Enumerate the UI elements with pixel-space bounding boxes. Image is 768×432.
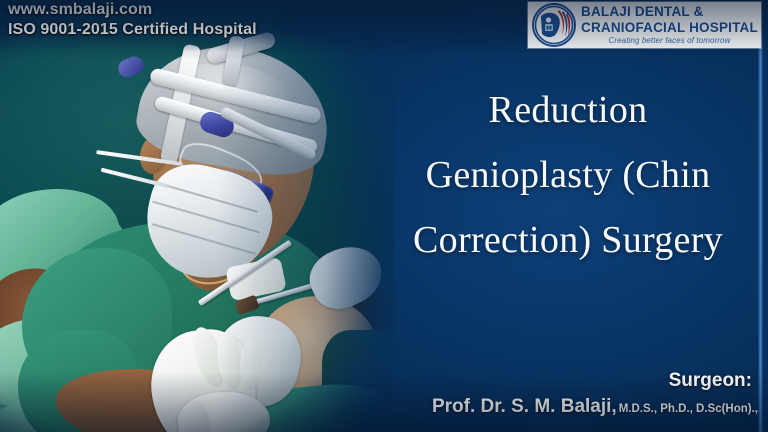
iso-certification-text: ISO 9001-2015 Certified Hospital (8, 21, 257, 39)
logo-line-2: CRANIOFACIAL HOSPITAL (581, 21, 758, 35)
surgeon-credit-row: Prof. Dr. S. M. Balaji,M.D.S., Ph.D., D.… (432, 396, 758, 418)
photo-edge-shadow (0, 0, 395, 432)
site-url-text: www.smbalaji.com (8, 1, 152, 19)
title-line-3: Correction) Surgery (378, 208, 758, 273)
hospital-face-emblem-icon (532, 3, 576, 47)
video-thumbnail-slide: www.smbalaji.com ISO 9001-2015 Certified… (0, 0, 768, 432)
surgeon-label: Surgeon: (669, 370, 752, 392)
hospital-logo[interactable]: BALAJI DENTAL & CRANIOFACIAL HOSPITAL Cr… (528, 2, 761, 48)
title-line-1: Reduction (378, 78, 758, 143)
right-edge-border (763, 0, 768, 432)
surgery-photo (0, 0, 395, 432)
logo-tagline: Creating better faces of tomorrow (581, 37, 758, 45)
title-line-2: Genioplasty (Chin (378, 143, 758, 208)
surgeon-credentials: M.D.S., Ph.D., D.Sc(Hon)., (619, 403, 758, 415)
logo-line-1: BALAJI DENTAL & (581, 5, 758, 19)
surgeon-name: Prof. Dr. S. M. Balaji, (432, 396, 617, 417)
slide-title: Reduction Genioplasty (Chin Correction) … (378, 78, 758, 273)
